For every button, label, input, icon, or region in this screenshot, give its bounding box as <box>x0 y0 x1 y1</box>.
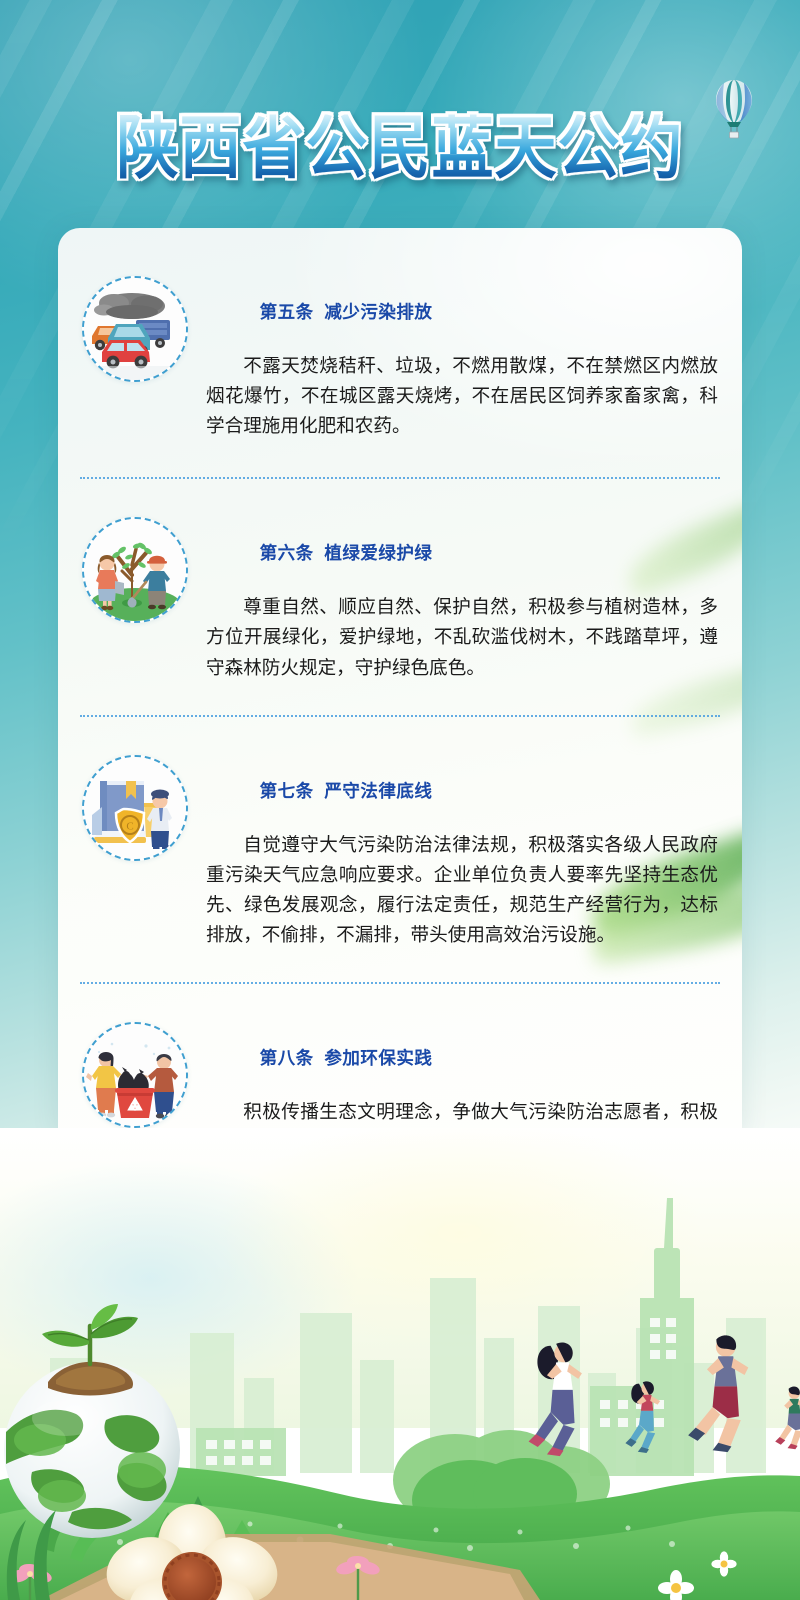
article-item: 第八条 参加环保实践 积极传播生态文明理念，争做大气污染防治志愿者，积极宣传绿色… <box>58 984 742 1133</box>
article-title-label: 严守法律底线 <box>324 781 432 801</box>
article-number: 第五条 <box>260 302 314 322</box>
article-heading: 第七条 严守法律底线 <box>206 757 718 824</box>
article-number: 第七条 <box>260 781 314 801</box>
article-text: 第五条 减少污染排放 不露天焚烧秸秆、垃圾，不燃用散煤，不在禁燃区内燃放烟花爆竹… <box>188 276 718 441</box>
footer-scene-svg <box>0 1128 800 1600</box>
article-text: 第六条 植绿爱绿护绿 尊重自然、顺应自然、保护自然，积极参与植树造林，多方位开展… <box>188 517 718 682</box>
article-number: 第六条 <box>260 543 314 563</box>
footer-illustration: GREEN ENVIRONMENTAL PROTECTION . LOW CAR… <box>0 1128 800 1600</box>
recycling-bin-people-icon <box>82 1022 188 1128</box>
smoking-vehicles-icon <box>82 276 188 382</box>
article-title-label: 植绿爱绿护绿 <box>324 543 432 563</box>
article-heading: 第五条 减少污染排放 <box>206 278 718 345</box>
content-card: 第五条 减少污染排放 不露天焚烧秸秆、垃圾，不燃用散煤，不在禁燃区内燃放烟花爆竹… <box>58 228 742 1133</box>
svg-text:C: C <box>126 820 133 832</box>
article-heading: 第六条 植绿爱绿护绿 <box>206 519 718 586</box>
article-heading: 第八条 参加环保实践 <box>206 1024 718 1091</box>
article-text: 第七条 严守法律底线 自觉遵守大气污染防治法律法规，积极落实各级人民政府重污染天… <box>188 755 718 950</box>
article-body: 不露天焚烧秸秆、垃圾，不燃用散煤，不在禁燃区内燃放烟花爆竹，不在城区露天烧烤，不… <box>206 351 718 441</box>
article-item: C <box>58 717 742 950</box>
article-item: 第六条 植绿爱绿护绿 尊重自然、顺应自然、保护自然，积极参与植树造林，多方位开展… <box>58 479 742 682</box>
page-title: 陕西省公民蓝天公约 <box>116 114 683 183</box>
article-item: 第五条 减少污染排放 不露天焚烧秸秆、垃圾，不燃用散煤，不在禁燃区内燃放烟花爆竹… <box>58 228 742 441</box>
article-title-label: 减少污染排放 <box>324 302 432 322</box>
article-body: 尊重自然、顺应自然、保护自然，积极参与植树造林，多方位开展绿化，爱护绿地，不乱砍… <box>206 592 718 682</box>
article-text: 第八条 参加环保实践 积极传播生态文明理念，争做大气污染防治志愿者，积极宣传绿色… <box>188 1022 718 1133</box>
tree-planting-icon <box>82 517 188 623</box>
green-earth-globe-icon <box>4 1304 180 1538</box>
poster-root: 陕西省公民蓝天公约 <box>0 0 800 1600</box>
poster-title-wrapper: 陕西省公民蓝天公约 <box>0 118 800 180</box>
article-title-label: 参加环保实践 <box>324 1048 432 1068</box>
law-book-shield-icon: C <box>82 755 188 861</box>
article-body: 自觉遵守大气污染防治法律法规，积极落实各级人民政府重污染天气应急响应要求。企业单… <box>206 830 718 950</box>
article-number: 第八条 <box>260 1048 314 1068</box>
